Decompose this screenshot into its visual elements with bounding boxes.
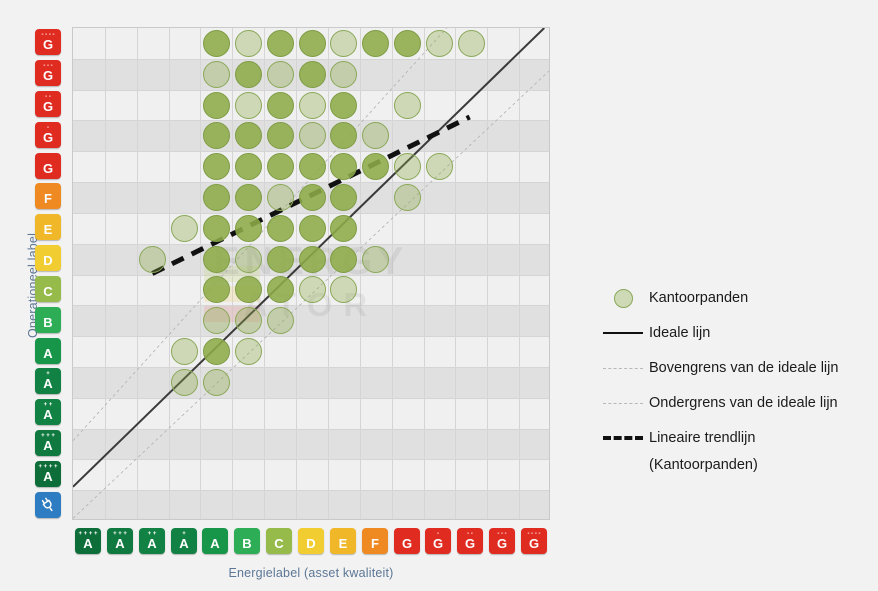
scatter-point[interactable] bbox=[171, 369, 198, 396]
badge-letter: G bbox=[529, 537, 539, 554]
badge-marks: + + bbox=[35, 402, 61, 408]
plot-area: ENERGY ATOR bbox=[72, 27, 550, 520]
badge-letter: A bbox=[43, 439, 52, 456]
energy-label-badge: + + + +A bbox=[35, 461, 61, 487]
scatter-point[interactable] bbox=[299, 122, 326, 149]
scatter-point[interactable] bbox=[362, 30, 389, 57]
energy-label-badge: G bbox=[35, 153, 61, 179]
scatter-point[interactable] bbox=[203, 369, 230, 396]
scatter-point[interactable] bbox=[330, 61, 357, 88]
scatter-point[interactable] bbox=[267, 61, 294, 88]
badge-letter: A bbox=[43, 470, 52, 487]
energy-label-badge: - -G bbox=[457, 528, 483, 554]
scatter-point[interactable] bbox=[203, 246, 230, 273]
x-axis-title: Energielabel (asset kwaliteit) bbox=[72, 566, 550, 580]
energy-label-badge: - - -G bbox=[35, 60, 61, 86]
energy-label-badge: A bbox=[202, 528, 228, 554]
scatter-point[interactable] bbox=[330, 246, 357, 273]
legend-label: Bovengrens van de ideale lijn bbox=[649, 358, 838, 378]
badge-letter: A bbox=[179, 537, 188, 554]
scatter-point[interactable] bbox=[426, 30, 453, 57]
badge-marks: + + bbox=[139, 531, 165, 537]
badge-letter: D bbox=[43, 254, 52, 271]
scatter-point[interactable] bbox=[330, 92, 357, 119]
scatter-point[interactable] bbox=[235, 246, 262, 273]
badge-letter: B bbox=[43, 316, 52, 333]
scatter-point[interactable] bbox=[139, 246, 166, 273]
scatter-point[interactable] bbox=[171, 215, 198, 242]
scatter-point[interactable] bbox=[299, 92, 326, 119]
badge-marks: - bbox=[425, 531, 451, 537]
legend-marker bbox=[597, 358, 649, 378]
badge-letter: C bbox=[43, 285, 52, 302]
badge-letter: A bbox=[147, 537, 156, 554]
legend-label: Lineaire trendlijn bbox=[649, 428, 755, 448]
legend-dotted-line-icon bbox=[603, 403, 643, 404]
energy-label-badge: -G bbox=[35, 122, 61, 148]
scatter-point[interactable] bbox=[267, 30, 294, 57]
scatter-point[interactable] bbox=[203, 184, 230, 211]
scatter-point[interactable] bbox=[235, 153, 262, 180]
energy-label-badge: +A bbox=[35, 368, 61, 394]
badge-marks: + + + + bbox=[75, 531, 101, 537]
scatter-point[interactable] bbox=[267, 153, 294, 180]
legend-solid-line-icon bbox=[603, 332, 643, 334]
badge-marks: - - - - bbox=[521, 531, 547, 537]
scatter-point[interactable] bbox=[235, 92, 262, 119]
badge-letter: G bbox=[465, 537, 475, 554]
chart-page: Operationeel label - - - -G- - -G- -G-GG… bbox=[0, 0, 878, 591]
energy-label-badge: - - - -G bbox=[521, 528, 547, 554]
legend-label: Ondergrens van de ideale lijn bbox=[649, 393, 838, 413]
legend-dotted-line-icon bbox=[603, 368, 643, 369]
scatter-point[interactable] bbox=[203, 61, 230, 88]
energy-label-badge: G bbox=[394, 528, 420, 554]
scatter-point[interactable] bbox=[299, 276, 326, 303]
energy-label-badge: F bbox=[362, 528, 388, 554]
energy-label-badge: - -G bbox=[35, 91, 61, 117]
badge-letter: B bbox=[242, 537, 251, 554]
legend-dashed-line-icon bbox=[603, 436, 643, 440]
legend-circle-icon bbox=[614, 289, 633, 308]
scatter-point[interactable] bbox=[267, 307, 294, 334]
legend: KantoorpandenIdeale lijnBovengrens van d… bbox=[597, 288, 872, 473]
energy-label-badge: + + + +A bbox=[75, 528, 101, 554]
scatter-point[interactable] bbox=[235, 61, 262, 88]
scatter-point[interactable] bbox=[299, 246, 326, 273]
energy-label-badge: B bbox=[35, 307, 61, 333]
badge-letter: F bbox=[371, 537, 379, 554]
badge-letter: G bbox=[497, 537, 507, 554]
scatter-point[interactable] bbox=[267, 276, 294, 303]
badge-letter: A bbox=[43, 408, 52, 425]
legend-item[interactable]: Ondergrens van de ideale lijn bbox=[597, 393, 872, 413]
badge-marks: + + + bbox=[35, 433, 61, 439]
badge-letter: F bbox=[44, 192, 52, 209]
scatter-point[interactable] bbox=[235, 338, 262, 365]
scatter-point[interactable] bbox=[235, 307, 262, 334]
energy-label-badge: - - - -G bbox=[35, 29, 61, 55]
badge-marks: + bbox=[35, 371, 61, 377]
badge-letter: G bbox=[43, 131, 53, 148]
badge-marks: + bbox=[171, 531, 197, 537]
energy-label-badge: E bbox=[330, 528, 356, 554]
badge-marks: - - bbox=[35, 94, 61, 100]
legend-item[interactable]: Lineaire trendlijn bbox=[597, 428, 872, 448]
scatter-point[interactable] bbox=[299, 184, 326, 211]
legend-marker bbox=[597, 393, 649, 413]
legend-marker bbox=[597, 428, 649, 448]
badge-letter: C bbox=[274, 537, 283, 554]
scatter-point[interactable] bbox=[235, 215, 262, 242]
badge-marks: - - bbox=[457, 531, 483, 537]
scatter-point[interactable] bbox=[267, 92, 294, 119]
legend-trendline-sublabel: (Kantoorpanden) bbox=[649, 457, 872, 473]
badge-letter: A bbox=[83, 537, 92, 554]
scatter-point[interactable] bbox=[235, 184, 262, 211]
badge-letter: E bbox=[44, 223, 53, 240]
scatter-point[interactable] bbox=[203, 307, 230, 334]
scatter-point[interactable] bbox=[299, 215, 326, 242]
scatter-point[interactable] bbox=[458, 30, 485, 57]
energy-label-badge: D bbox=[35, 245, 61, 271]
energy-label-badge: C bbox=[266, 528, 292, 554]
legend-item[interactable]: Bovengrens van de ideale lijn bbox=[597, 358, 872, 378]
badge-marks: + + + + bbox=[35, 464, 61, 470]
scatter-point[interactable] bbox=[267, 215, 294, 242]
energy-label-badge: A bbox=[35, 338, 61, 364]
scatter-point[interactable] bbox=[235, 276, 262, 303]
badge-letter: D bbox=[306, 537, 315, 554]
scatter-point[interactable] bbox=[362, 246, 389, 273]
scatter-point[interactable] bbox=[267, 246, 294, 273]
legend-item[interactable]: Kantoorpanden bbox=[597, 288, 872, 308]
scatter-point[interactable] bbox=[394, 184, 421, 211]
energy-label-badge: + + +A bbox=[35, 430, 61, 456]
badge-letter: G bbox=[43, 69, 53, 86]
scatter-point[interactable] bbox=[235, 122, 262, 149]
badge-letter: G bbox=[433, 537, 443, 554]
badge-letter: G bbox=[43, 38, 53, 55]
scatter-point[interactable] bbox=[203, 30, 230, 57]
energy-label-badge: C bbox=[35, 276, 61, 302]
scatter-point[interactable] bbox=[203, 92, 230, 119]
scatter-point[interactable] bbox=[203, 338, 230, 365]
energy-label-badge: D bbox=[298, 528, 324, 554]
scatter-point[interactable] bbox=[394, 92, 421, 119]
badge-letter: A bbox=[43, 347, 52, 364]
scatter-point[interactable] bbox=[299, 153, 326, 180]
scatter-point[interactable] bbox=[203, 153, 230, 180]
badge-letter: G bbox=[402, 537, 412, 554]
energy-label-badge: +A bbox=[171, 528, 197, 554]
badge-marks: - - - bbox=[489, 531, 515, 537]
energy-label-badge: -G bbox=[425, 528, 451, 554]
legend-label: Ideale lijn bbox=[649, 323, 710, 343]
energy-label-badge: B bbox=[234, 528, 260, 554]
scatter-point[interactable] bbox=[330, 215, 357, 242]
energy-label-badge: + + +A bbox=[107, 528, 133, 554]
scatter-point[interactable] bbox=[267, 122, 294, 149]
energy-label-badge: F bbox=[35, 183, 61, 209]
scatter-point[interactable] bbox=[426, 153, 453, 180]
badge-letter: A bbox=[115, 537, 124, 554]
scatter-point[interactable] bbox=[203, 215, 230, 242]
plug-icon bbox=[35, 492, 61, 518]
scatter-point[interactable] bbox=[171, 338, 198, 365]
energy-label-badge: E bbox=[35, 214, 61, 240]
energy-label-badge: + +A bbox=[35, 399, 61, 425]
badge-marks: - - - - bbox=[35, 32, 61, 38]
scatter-point[interactable] bbox=[394, 30, 421, 57]
energy-label-badge: - - -G bbox=[489, 528, 515, 554]
scatter-point[interactable] bbox=[299, 30, 326, 57]
scatter-point[interactable] bbox=[299, 61, 326, 88]
badge-letter: A bbox=[210, 537, 219, 554]
energy-label-badge: + +A bbox=[139, 528, 165, 554]
badge-letter: A bbox=[43, 377, 52, 394]
scatter-point[interactable] bbox=[267, 184, 294, 211]
legend-item[interactable]: Ideale lijn bbox=[597, 323, 872, 343]
badge-marks: + + + bbox=[107, 531, 133, 537]
badge-letter: G bbox=[43, 162, 53, 179]
badge-letter: E bbox=[339, 537, 348, 554]
badge-letter: G bbox=[43, 100, 53, 117]
legend-marker bbox=[597, 323, 649, 343]
legend-label: Kantoorpanden bbox=[649, 288, 748, 308]
scatter-point[interactable] bbox=[235, 30, 262, 57]
badge-marks: - bbox=[35, 125, 61, 131]
badge-marks: - - - bbox=[35, 63, 61, 69]
legend-marker bbox=[597, 288, 649, 308]
